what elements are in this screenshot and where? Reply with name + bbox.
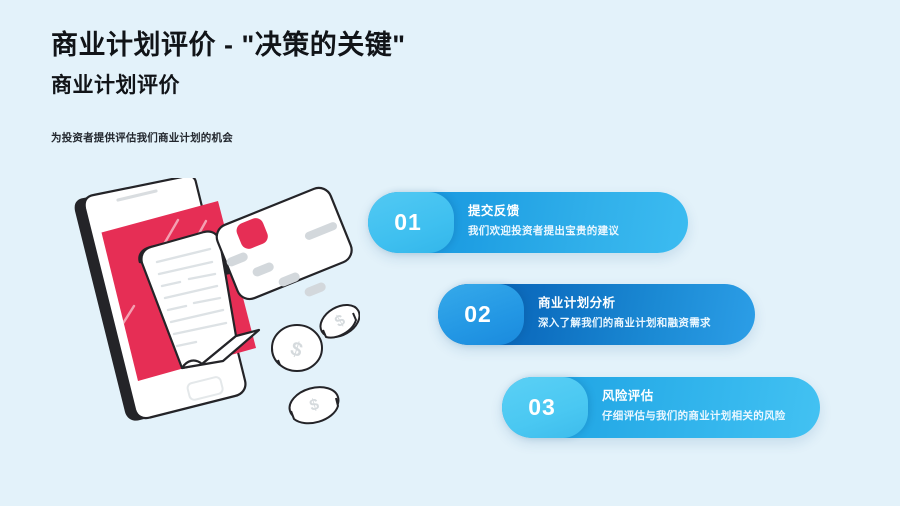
title-block: 商业计划评价 - "决策的关键" 商业计划评价 xyxy=(51,28,651,100)
step-description-01: 我们欢迎投资者提出宝贵的建议 xyxy=(468,224,670,239)
step-text-02: 商业计划分析 深入了解我们的商业计划和融资需求 xyxy=(538,295,737,331)
lead-paragraph: 为投资者提供评估我们商业计划的机会 xyxy=(51,130,233,145)
step-description-02: 深入了解我们的商业计划和融资需求 xyxy=(538,316,737,331)
credit-card-icon xyxy=(213,184,356,303)
coin-icon-1: $ xyxy=(315,298,360,343)
step-item-02[interactable]: 02 商业计划分析 深入了解我们的商业计划和融资需求 xyxy=(438,284,755,345)
page-subtitle: 商业计划评价 xyxy=(51,72,651,100)
step-number-02: 02 xyxy=(464,303,498,326)
step-title-02: 商业计划分析 xyxy=(538,295,737,311)
coin-icon-2: $ xyxy=(272,325,322,371)
step-title-03: 风险评估 xyxy=(602,388,802,404)
step-badge-03: 03 xyxy=(502,377,588,438)
step-badge-02: 02 xyxy=(438,284,524,345)
step-title-01: 提交反馈 xyxy=(468,203,670,219)
step-badge-01: 01 xyxy=(368,192,454,253)
slide-canvas: 商业计划评价 - "决策的关键" 商业计划评价 为投资者提供评估我们商业计划的机… xyxy=(0,0,900,506)
step-item-01[interactable]: 01 提交反馈 我们欢迎投资者提出宝贵的建议 xyxy=(368,192,688,253)
step-number-01: 01 xyxy=(394,211,428,234)
illustration-svg: $ $ $ xyxy=(60,178,360,440)
step-item-03[interactable]: 03 风险评估 仔细评估与我们的商业计划相关的风险 xyxy=(502,377,820,438)
step-text-03: 风险评估 仔细评估与我们的商业计划相关的风险 xyxy=(602,388,802,424)
step-description-03: 仔细评估与我们的商业计划相关的风险 xyxy=(602,409,802,424)
step-number-03: 03 xyxy=(528,396,562,419)
coin-icon-3: $ xyxy=(286,382,343,427)
step-text-01: 提交反馈 我们欢迎投资者提出宝贵的建议 xyxy=(468,203,670,239)
page-title: 商业计划评价 - "决策的关键" xyxy=(51,28,651,62)
mobile-payment-illustration: $ $ $ xyxy=(60,178,360,440)
